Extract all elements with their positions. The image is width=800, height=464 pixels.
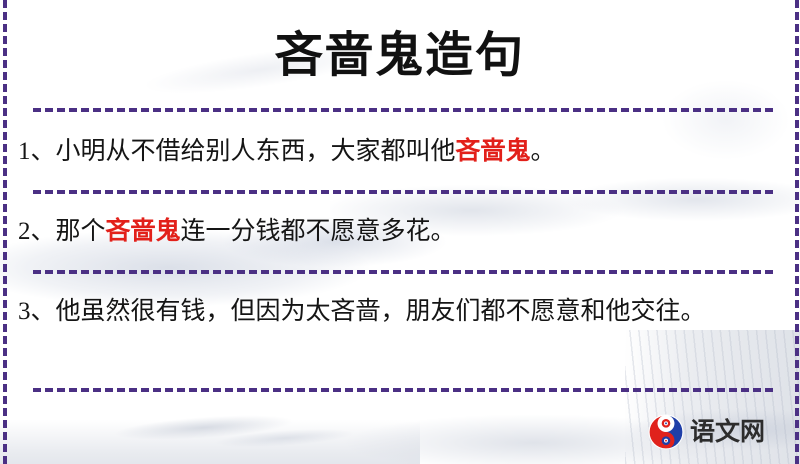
site-logo[interactable]: 语文网 bbox=[648, 414, 765, 450]
sentence-item-1: 1、小明从不借给别人东西，大家都叫他吝啬鬼。 bbox=[18, 133, 770, 171]
divider-after-sentence-2 bbox=[33, 270, 773, 274]
sentence-list: 1、小明从不借给别人东西，大家都叫他吝啬鬼。 2、那个吝啬鬼连一分钱都不愿意多花… bbox=[0, 0, 800, 464]
page-border-right bbox=[795, 0, 799, 464]
divider-below-title bbox=[33, 108, 773, 112]
page-border-left bbox=[3, 0, 7, 464]
sentence-text-run: 1、小明从不借给别人东西，大家都叫他 bbox=[18, 138, 456, 165]
site-logo-text: 语文网 bbox=[690, 420, 765, 445]
highlighted-term: 吝啬鬼 bbox=[106, 218, 181, 245]
sentence-text-run: 。 bbox=[531, 138, 556, 165]
sentence-text-run: 2、那个 bbox=[18, 218, 106, 245]
yinyang-emblem-icon bbox=[648, 414, 684, 450]
slide-canvas: 吝啬鬼造句 1、小明从不借给别人东西，大家都叫他吝啬鬼。 2、那个吝啬鬼连一分钱… bbox=[0, 0, 800, 464]
sentence-item-2: 2、那个吝啬鬼连一分钱都不愿意多花。 bbox=[18, 213, 770, 251]
divider-after-sentence-3 bbox=[33, 388, 773, 392]
divider-after-sentence-1 bbox=[33, 190, 773, 194]
sentence-text-run: 连一分钱都不愿意多花。 bbox=[181, 218, 456, 245]
highlighted-term: 吝啬鬼 bbox=[456, 138, 531, 165]
sentence-item-3: 3、他虽然很有钱，但因为太吝啬，朋友们都不愿意和他交往。 bbox=[18, 293, 770, 331]
sentence-text-run: 3、他虽然很有钱，但因为太吝啬，朋友们都不愿意和他交往。 bbox=[18, 298, 706, 325]
